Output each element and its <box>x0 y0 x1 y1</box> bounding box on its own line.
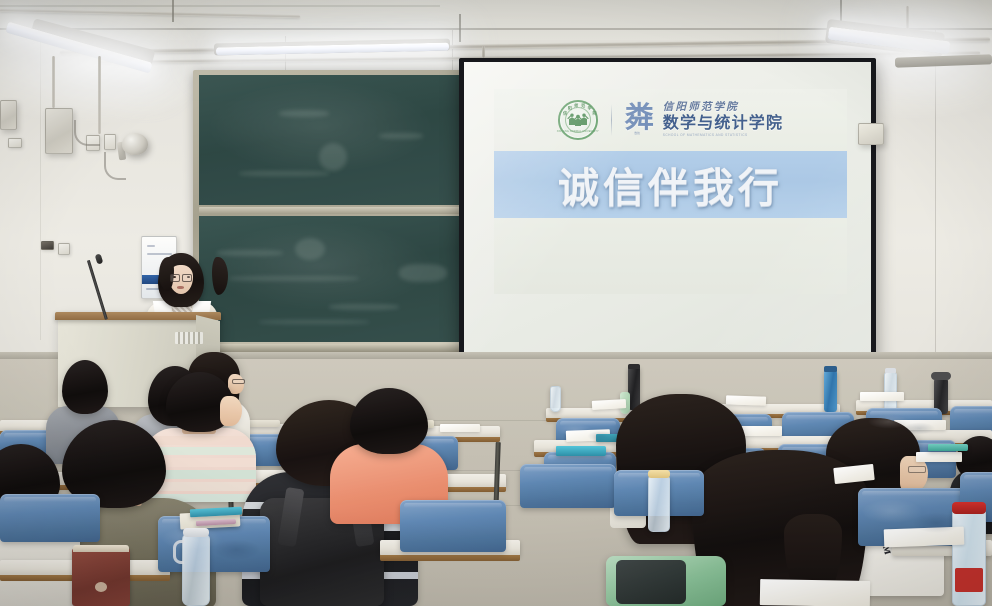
presentation-slide: 信 阳 师 范 学 院 <box>494 89 847 294</box>
notebook <box>928 444 968 451</box>
blackboard-upper <box>199 75 469 205</box>
paper-sheet <box>884 527 965 548</box>
seat <box>520 464 616 508</box>
light-hanger <box>172 0 174 22</box>
ceiling-seam <box>0 5 440 7</box>
bottle-cap <box>183 528 209 537</box>
speaker-hair-front <box>212 257 228 295</box>
chalk-tray <box>193 344 476 352</box>
pencil-pouch <box>72 548 130 606</box>
pouch-flap <box>73 545 129 552</box>
seat <box>0 494 100 542</box>
thermos-bottle <box>824 370 837 412</box>
bottle-cap <box>648 470 670 478</box>
school-mark-glyph: 粦 <box>625 103 650 132</box>
school-mark-icon: 粦 数统 <box>625 103 650 136</box>
wall-outlet <box>8 138 22 148</box>
blackboard-lower <box>199 216 469 342</box>
university-seal-icon: 信 阳 师 范 学 院 <box>558 100 598 140</box>
projection-screen-frame: 信 阳 师 范 学 院 <box>459 58 876 363</box>
bag-strap <box>616 560 686 604</box>
wall-bracket <box>858 123 884 145</box>
department-block: 信阳师范学院 数学与统计学院 SCHOOL OF MATHEMATICS AND… <box>663 102 783 138</box>
conduit-pipe <box>98 56 101 134</box>
bottle-handle <box>173 540 184 564</box>
school-name: 数学与统计学院 <box>663 114 783 131</box>
slide-header: 信 阳 师 范 学 院 <box>494 89 847 151</box>
seat <box>400 500 506 552</box>
school-mark-caption: 数统 <box>634 133 640 136</box>
bottle-cap <box>628 364 640 369</box>
light-hanger <box>459 14 461 42</box>
speaker-mouth <box>177 286 184 289</box>
cable <box>74 120 100 146</box>
wall-seam <box>935 30 936 360</box>
wall-outlet <box>58 243 70 255</box>
blackboard-frame <box>193 70 476 352</box>
wall-outlet <box>104 134 116 150</box>
water-bottle <box>182 534 210 606</box>
slide-title: 诚信伴我行 <box>558 154 783 214</box>
student-head <box>62 360 108 414</box>
bottle-handle <box>931 372 951 380</box>
logo-divider <box>611 104 612 136</box>
student <box>336 388 448 508</box>
paper-sheet <box>760 579 870 606</box>
bottle-cap <box>824 366 837 372</box>
eyeglasses-icon <box>908 466 926 473</box>
seal-figure-icon <box>567 112 589 128</box>
notebook <box>556 446 606 456</box>
paper-sheet <box>860 392 904 401</box>
desk-edge <box>380 555 520 561</box>
podium-vent <box>175 332 203 344</box>
wall-outlet <box>41 241 54 250</box>
school-name-english: SCHOOL OF MATHEMATICS AND STATISTICS <box>663 134 783 137</box>
slide-footer <box>494 218 847 294</box>
cable <box>104 152 126 180</box>
university-name: 信阳师范学院 <box>663 102 783 113</box>
bottle-cap <box>885 368 896 373</box>
slide-title-band: 诚信伴我行 <box>494 151 847 219</box>
wall-junction-box <box>0 100 17 130</box>
eyeglasses-icon <box>170 274 192 280</box>
water-bottle <box>648 476 670 532</box>
bottle-label <box>955 568 983 592</box>
projection-screen: 信 阳 师 范 学 院 <box>464 62 871 354</box>
student-head <box>350 388 428 454</box>
seal-subtext: XINYANG NORMAL UNIVERSITY <box>557 130 599 133</box>
paper-sheet <box>916 452 962 462</box>
bear-motif-icon <box>95 582 107 592</box>
bottle-cap <box>952 502 986 514</box>
water-bottle <box>550 386 561 412</box>
conduit-pipe <box>52 56 55 108</box>
classroom-photo-scene: 信 阳 师 范 学 院 <box>0 0 992 606</box>
wall-seam <box>40 40 41 340</box>
chalk-rail <box>199 207 469 214</box>
wall-junction-box <box>45 108 73 154</box>
